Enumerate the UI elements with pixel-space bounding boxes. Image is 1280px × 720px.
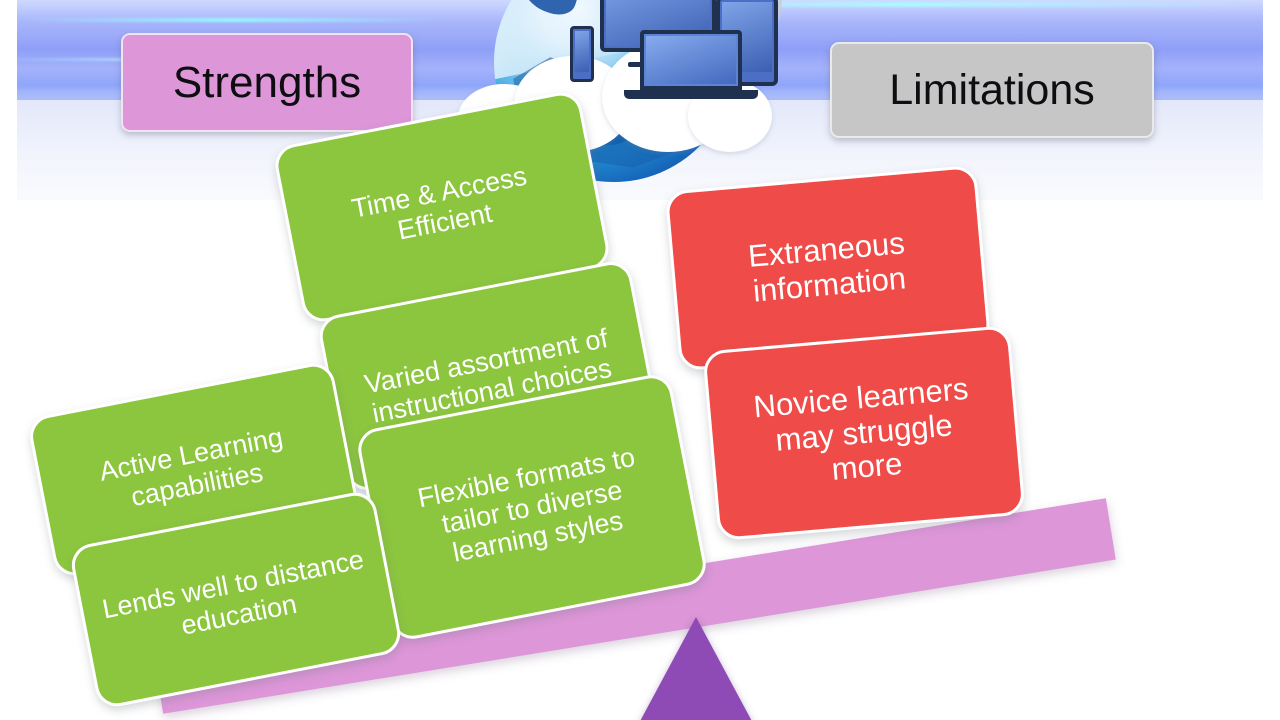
- card-line: Time & Access Efficient: [300, 151, 584, 263]
- fulcrum-triangle-icon: [638, 617, 754, 720]
- limitations-header: Limitations: [830, 42, 1154, 138]
- background-cyan-streak-1: [16, 18, 446, 22]
- card-text: Active Learning capabilities: [97, 422, 291, 517]
- smartphone-icon: [570, 26, 594, 82]
- limitation-card-novice-learners: Novice learners may struggle more: [702, 325, 1025, 541]
- card-text: Novice learners may struggle more: [752, 372, 976, 495]
- limitations-header-label: Limitations: [889, 66, 1095, 115]
- card-text: Flexible formats to tailor to diverse le…: [415, 441, 649, 572]
- strengths-header-label: Strengths: [173, 58, 361, 108]
- laptop-icon: [640, 30, 742, 90]
- laptop-base: [624, 90, 758, 99]
- card-text: Time & Access Efficient: [300, 151, 584, 263]
- background-left-margin: [0, 0, 17, 200]
- device-group: [548, 0, 798, 124]
- slide-canvas: Strengths Limitations Time & Access Effi…: [0, 0, 1280, 720]
- card-text: Lends well to distance education: [100, 544, 372, 654]
- background-right-margin: [1263, 0, 1280, 200]
- strengths-header: Strengths: [121, 33, 413, 132]
- card-text: Extraneous information: [747, 227, 909, 310]
